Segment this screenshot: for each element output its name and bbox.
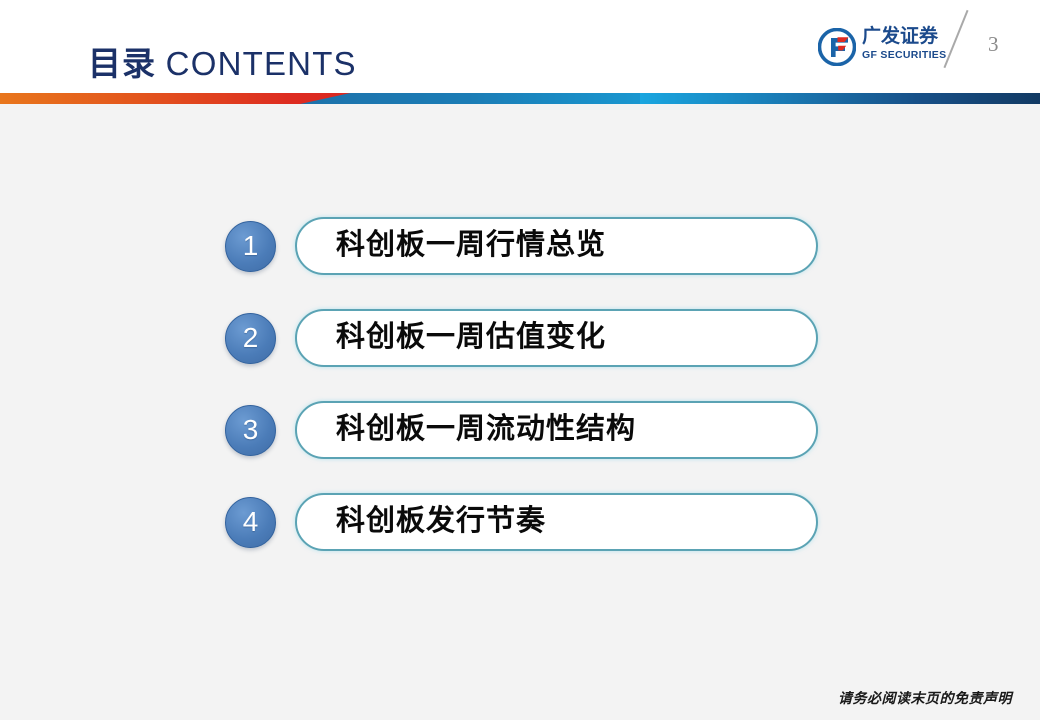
company-logo: 广发证券 GF SECURITIES: [818, 24, 950, 70]
contents-item-3[interactable]: 3 科创板一周流动性结构: [0, 399, 1040, 491]
contents-item-number: 2: [226, 314, 275, 362]
contents-item-label: 科创板一周行情总览: [336, 219, 606, 272]
header-divider-bar: [0, 93, 1040, 104]
slide-header: 目录 CONTENTS 广发证券 GF SECURITIES 3: [0, 0, 1040, 93]
contents-item-pill[interactable]: 科创板发行节奏: [295, 493, 818, 551]
logo-wordmark: 广发证券 GF SECURITIES: [862, 26, 954, 62]
page-title-en: CONTENTS: [166, 45, 357, 82]
contents-item-number: 4: [226, 498, 275, 546]
footer-disclaimer: 请务必阅读末页的免责声明: [838, 688, 1012, 708]
contents-item-number-badge: 4: [225, 497, 276, 548]
contents-item-1[interactable]: 1 科创板一周行情总览: [0, 215, 1040, 307]
contents-item-number-badge: 3: [225, 405, 276, 456]
contents-list: 1 科创板一周行情总览 2 科创板一周估值变化 3 科创板一周流动性结构: [0, 215, 1040, 583]
logo-name-cn: 广发证券: [862, 26, 954, 48]
page-title: 目录 CONTENTS: [88, 45, 357, 83]
contents-item-number-badge: 1: [225, 221, 276, 272]
gf-circle-logo-icon: [818, 28, 856, 66]
contents-item-label: 科创板发行节奏: [336, 495, 546, 548]
contents-item-pill[interactable]: 科创板一周估值变化: [295, 309, 818, 367]
contents-item-4[interactable]: 4 科创板发行节奏: [0, 491, 1040, 583]
contents-item-number: 3: [226, 406, 275, 454]
contents-item-pill[interactable]: 科创板一周流动性结构: [295, 401, 818, 459]
divider-segment-navy: [640, 93, 1040, 104]
contents-item-2[interactable]: 2 科创板一周估值变化: [0, 307, 1040, 399]
contents-item-number: 1: [226, 222, 275, 270]
contents-item-label: 科创板一周流动性结构: [336, 403, 636, 456]
contents-item-pill[interactable]: 科创板一周行情总览: [295, 217, 818, 275]
contents-item-number-badge: 2: [225, 313, 276, 364]
page-title-cn: 目录: [88, 45, 156, 82]
contents-item-label: 科创板一周估值变化: [336, 311, 606, 364]
logo-name-en: GF SECURITIES: [862, 49, 954, 62]
page-number: 3: [988, 32, 999, 57]
slide-contents-page: 目录 CONTENTS 广发证券 GF SECURITIES 3: [0, 0, 1040, 720]
